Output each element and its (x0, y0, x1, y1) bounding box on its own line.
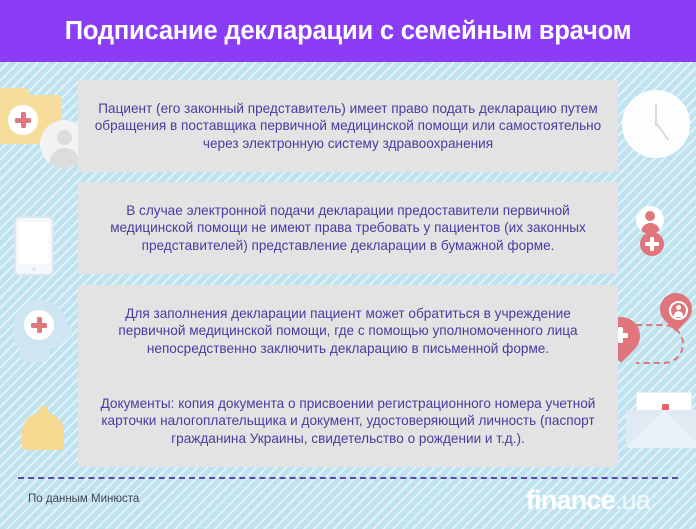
info-card: Для заполнения декларации пациент может … (78, 285, 618, 377)
head-medical-icon (14, 300, 72, 362)
clock-hand-minute (656, 123, 669, 141)
header-bar: Подписание декларации с семейным врачом (0, 0, 696, 62)
pin-avatar (636, 206, 664, 234)
map-pin-doctor-icon (618, 190, 682, 266)
head-nose (54, 324, 72, 340)
pin-user-ring (669, 301, 688, 320)
cross-badge (8, 105, 38, 135)
cross-glyph (15, 112, 31, 128)
pin-user-body (674, 311, 683, 317)
phone-home-button (32, 267, 36, 271)
avatar-body (50, 148, 79, 168)
page-title: Подписание декларации с семейным врачом (65, 17, 632, 46)
info-card: Документы: копия документа о присвоении … (78, 375, 618, 467)
phone-screen (19, 222, 49, 264)
clock-medical-icon (622, 90, 690, 158)
pin-cross-badge (640, 232, 664, 256)
bell-icon (18, 404, 70, 456)
source-attribution: По данным Минюста (28, 493, 139, 505)
envelope-flap-right (664, 410, 696, 448)
info-card-text: Пациент (его законный представитель) име… (92, 100, 604, 152)
info-card-text: Документы: копия документа о присвоении … (92, 395, 604, 447)
smartphone-icon (14, 216, 54, 276)
logo-main-text: finance (526, 485, 615, 515)
finance-ua-logo[interactable]: finance.ua (526, 487, 650, 514)
cross-glyph (31, 317, 47, 333)
infographic-page: Подписание декларации с семейным врачом … (0, 0, 696, 529)
avatar-head (57, 130, 72, 145)
cross-badge (24, 310, 54, 340)
cross-glyph (645, 237, 659, 251)
info-card-text: Для заполнения декларации пациент может … (92, 305, 604, 357)
map-pin-user-icon (658, 292, 694, 338)
bell-body (22, 412, 64, 450)
logo-tld-text: .ua (615, 485, 650, 515)
info-card: Пациент (его законный представитель) име… (78, 80, 618, 172)
pin-avatar-head (645, 211, 655, 221)
info-card: В случае электронной подачи декларации п… (78, 182, 618, 274)
pin-user-head (676, 305, 681, 310)
info-card-text: В случае электронной подачи декларации п… (92, 202, 604, 254)
envelope-flap-left (626, 410, 664, 448)
footer-divider (18, 477, 678, 479)
head-neck (20, 342, 50, 362)
envelope-medical-icon (626, 392, 696, 448)
